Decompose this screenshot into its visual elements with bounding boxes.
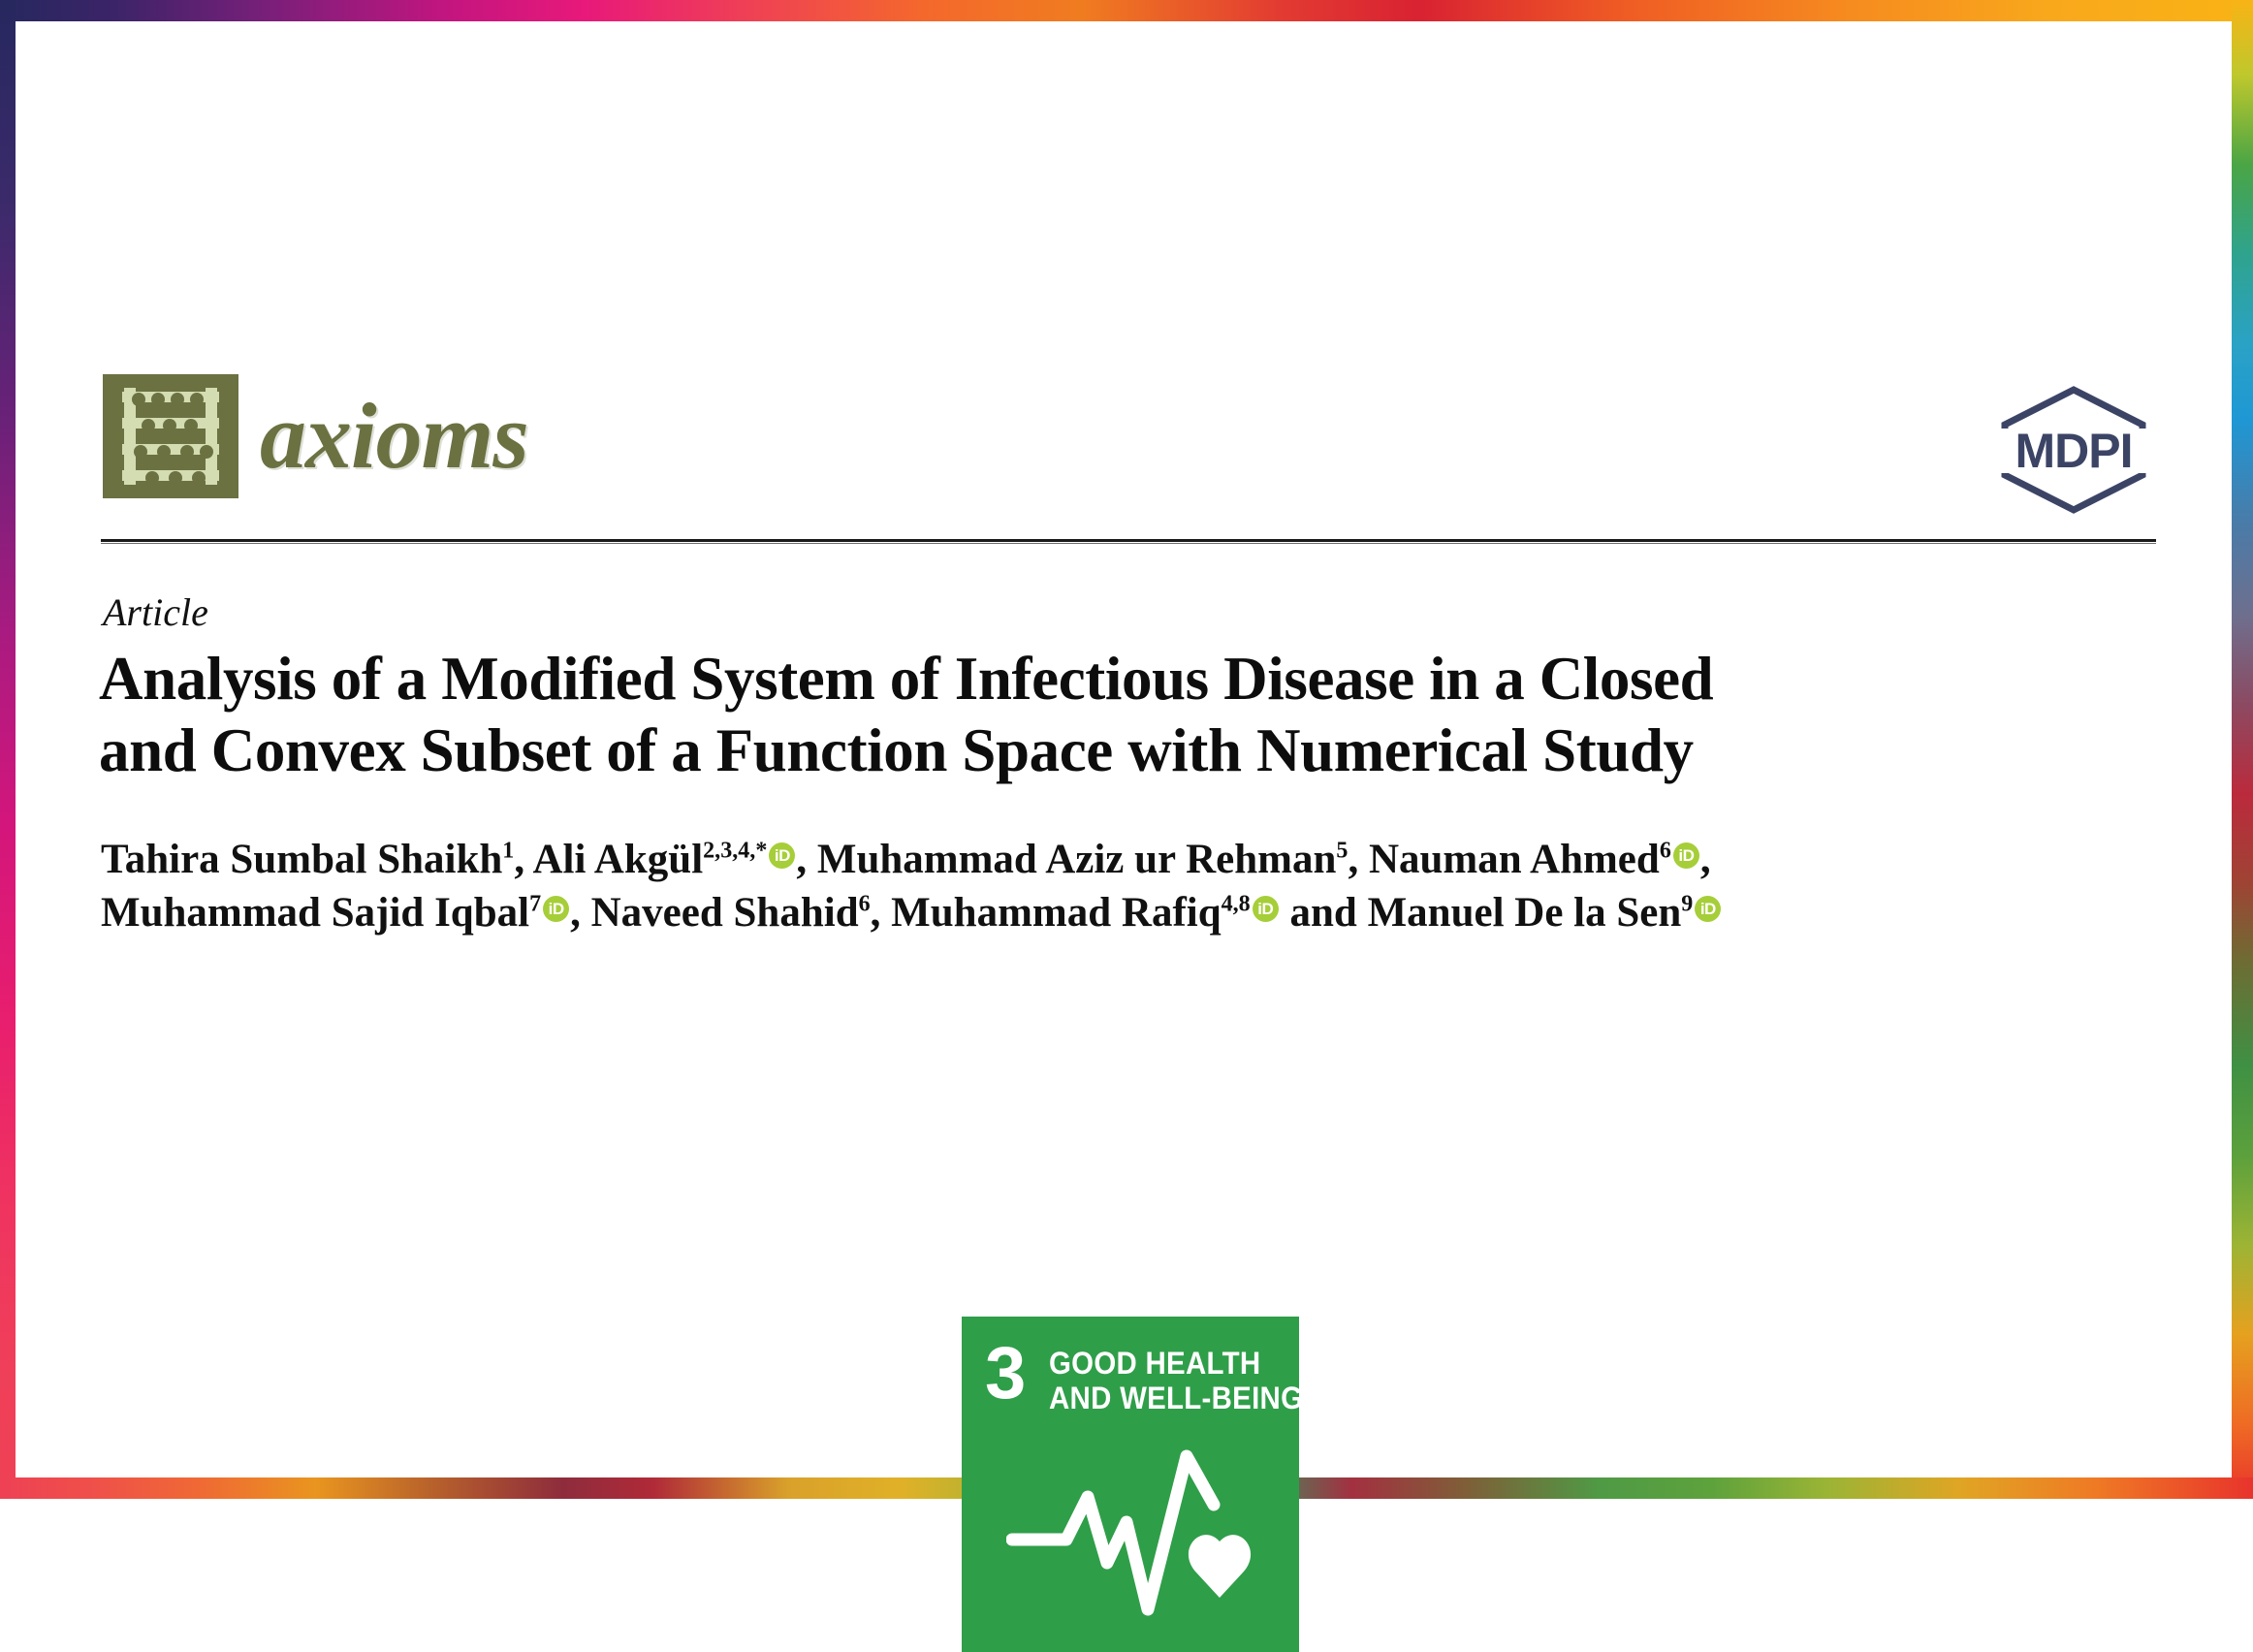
- frame-right-gradient: [2232, 0, 2253, 1499]
- sdg-number: 3: [985, 1340, 1026, 1408]
- title-line-2: and Convex Subset of a Function Space wi…: [99, 715, 2164, 787]
- author-conjunction: and: [1289, 890, 1356, 936]
- author-name: Muhammad Sajid Iqbal: [101, 890, 529, 936]
- author-name: Muhammad Rafiq: [891, 890, 1221, 936]
- sdg-title: GOOD HEALTH AND WELL-BEING: [1049, 1346, 1299, 1416]
- journal-name: axioms: [260, 390, 528, 483]
- author-line-1: Tahira Sumbal Shaikh1, Ali Akgül2,3,4,*i…: [101, 834, 2040, 887]
- author-affiliation: 6: [1660, 839, 1671, 864]
- ecg-heart-icon: [1006, 1433, 1258, 1627]
- svg-text:MDPI: MDPI: [2015, 424, 2133, 478]
- orcid-icon[interactable]: iD: [1253, 896, 1279, 922]
- author-line-2: Muhammad Sajid Iqbal7iD, Naveed Shahid6,…: [101, 887, 2040, 940]
- author-name: Ali Akgül: [532, 837, 703, 882]
- author-name: Manuel De la Sen: [1368, 890, 1682, 936]
- title-line-1: Analysis of a Modified System of Infecti…: [99, 644, 2164, 715]
- sdg-title-line-1: GOOD HEALTH: [1049, 1346, 1299, 1381]
- journal-logo: axioms: [103, 374, 528, 498]
- document-page: axioms MDPI Article Analysis of a Modifi…: [0, 0, 2253, 1652]
- author-name: Muhammad Aziz ur Rehman: [817, 837, 1337, 882]
- header-divider: [101, 539, 2156, 542]
- author-affiliation: 5: [1336, 839, 1348, 864]
- author-affiliation: 6: [859, 891, 871, 916]
- author-affiliation: 1: [502, 839, 514, 864]
- orcid-icon[interactable]: iD: [1673, 842, 1699, 869]
- author-affiliation: 7: [529, 891, 541, 916]
- author-affiliation: 9: [1681, 891, 1693, 916]
- orcid-icon[interactable]: iD: [543, 896, 569, 922]
- author-affiliation: 2,3,4,*: [703, 839, 767, 864]
- sdg-title-line-2: AND WELL-BEING: [1049, 1381, 1299, 1415]
- orcid-icon[interactable]: iD: [1695, 896, 1721, 922]
- article-type-label: Article: [103, 589, 208, 635]
- author-name: Naveed Shahid: [591, 890, 859, 936]
- abacus-icon: [103, 374, 238, 498]
- orcid-icon[interactable]: iD: [769, 842, 795, 869]
- frame-top-gradient: [0, 0, 2253, 21]
- author-name: Tahira Sumbal Shaikh: [101, 837, 502, 882]
- mdpi-logo: MDPI: [1991, 386, 2156, 514]
- author-name: Nauman Ahmed: [1369, 837, 1660, 882]
- page-title: Analysis of a Modified System of Infecti…: [99, 644, 2164, 786]
- author-affiliation: 4,8: [1222, 891, 1251, 916]
- sdg-badge: 3 GOOD HEALTH AND WELL-BEING: [962, 1317, 1299, 1652]
- author-list: Tahira Sumbal Shaikh1, Ali Akgül2,3,4,*i…: [101, 834, 2040, 939]
- frame-left-gradient: [0, 0, 16, 1499]
